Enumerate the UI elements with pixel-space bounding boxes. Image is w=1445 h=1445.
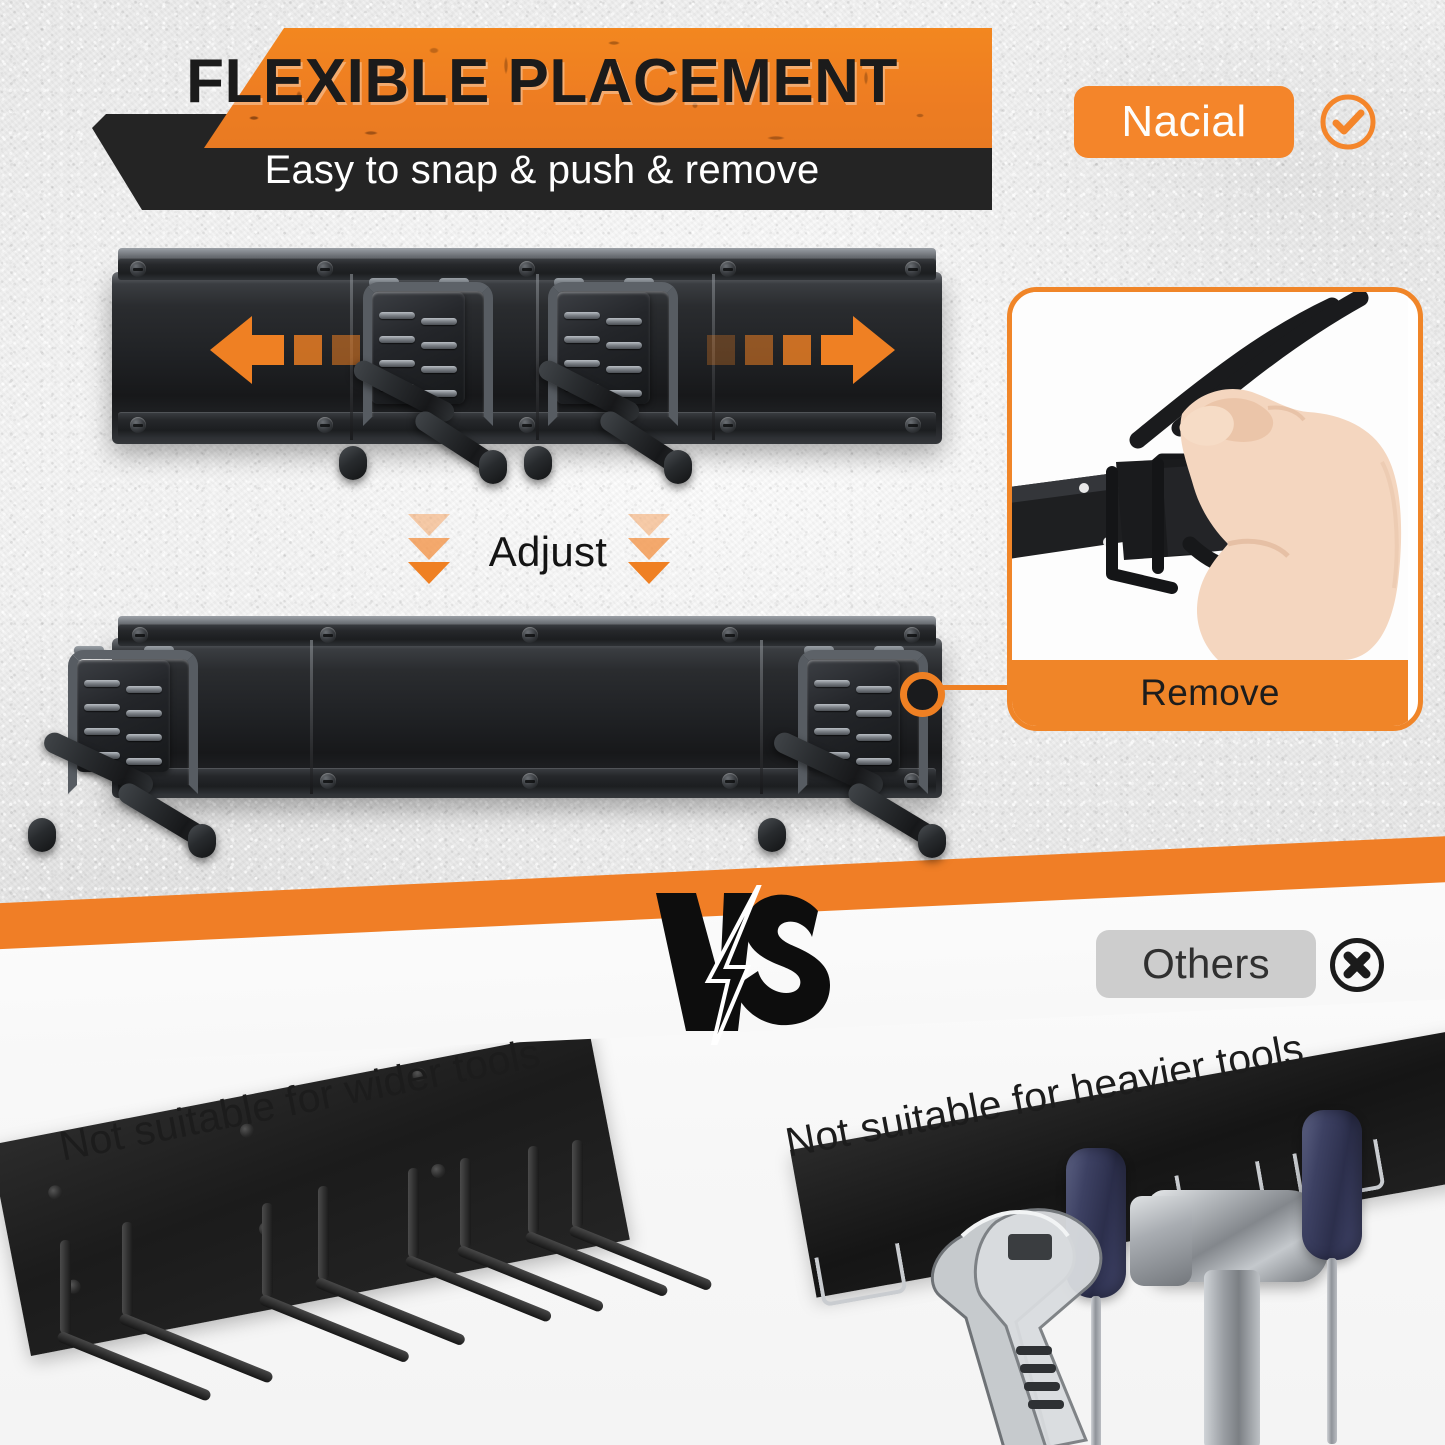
chevron-down-icon	[628, 562, 670, 584]
wire-hook-post	[572, 1140, 583, 1228]
rail-seam	[310, 640, 313, 794]
vs-badge	[650, 885, 840, 1045]
screwdriver-handle	[1302, 1110, 1362, 1260]
screw	[317, 261, 333, 277]
chevron-down-icon	[408, 538, 450, 560]
screw	[320, 773, 336, 789]
hook-tip	[479, 450, 507, 484]
rail-seam	[760, 640, 763, 794]
screw	[720, 261, 736, 277]
hook-tip	[664, 450, 692, 484]
screw	[522, 627, 538, 643]
rail-seam	[536, 274, 539, 440]
screw	[522, 773, 538, 789]
hook-tip	[524, 446, 552, 480]
hook	[60, 646, 200, 856]
chevron-down-icon	[628, 538, 670, 560]
chevron-down-icon	[628, 514, 670, 536]
arrow-right-icon	[707, 316, 895, 384]
hook-tip	[339, 446, 367, 480]
screw	[720, 417, 736, 433]
screw	[519, 261, 535, 277]
arrow-right-stem	[821, 335, 853, 365]
screw	[722, 773, 738, 789]
brand-name: Nacial	[1121, 97, 1246, 147]
screw	[904, 627, 920, 643]
wire-hook-post	[318, 1186, 329, 1280]
wire-hook-post	[528, 1146, 539, 1234]
banner-subtitle: Easy to snap & push & remove	[92, 148, 992, 193]
chevron-down-icon	[408, 562, 450, 584]
hook-tip	[758, 818, 786, 852]
arrow-right-head	[853, 316, 895, 384]
screw	[47, 1184, 63, 1200]
screw	[317, 417, 333, 433]
screw	[130, 417, 146, 433]
screw	[320, 627, 336, 643]
circle-x-icon	[1328, 936, 1386, 994]
arrow-left-head	[210, 316, 252, 384]
hook-tip	[918, 824, 946, 858]
remove-label-bar: Remove	[1012, 660, 1408, 726]
arrow-trail-block	[707, 335, 735, 365]
hook-tip	[188, 824, 216, 858]
screw	[430, 1163, 446, 1179]
brand-badge: Nacial	[1074, 86, 1294, 158]
remove-callout-panel: Remove	[1007, 287, 1423, 731]
screw	[722, 627, 738, 643]
arrow-trail-block	[745, 335, 773, 365]
callout-connector-dot	[900, 672, 945, 717]
screw	[132, 627, 148, 643]
remove-photo	[1012, 292, 1408, 660]
adjust-label: Adjust	[478, 528, 618, 576]
wire-hook-post	[460, 1158, 471, 1248]
circle-check-icon	[1318, 92, 1378, 152]
others-badge: Others	[1096, 930, 1316, 998]
adjust-indicator: Adjust	[400, 506, 690, 602]
others-label: Others	[1142, 940, 1270, 988]
screw	[905, 417, 921, 433]
wire-hook-post	[262, 1203, 273, 1297]
hammer-handle	[1204, 1270, 1260, 1445]
remove-label: Remove	[1140, 672, 1280, 714]
banner-title: FLEXIBLE PLACEMENT	[92, 46, 992, 117]
chevron-down-icon	[408, 514, 450, 536]
wire-hook-post	[408, 1168, 419, 1258]
rail-top	[112, 248, 942, 468]
header-banner: FLEXIBLE PLACEMENT Easy to snap & push &…	[92, 28, 992, 210]
product-infographic: FLEXIBLE PLACEMENT Easy to snap & push &…	[0, 0, 1445, 1445]
wire-hook-post	[122, 1222, 133, 1316]
pliers-tool	[900, 1178, 1190, 1445]
hook	[355, 278, 495, 488]
wire-hook-post	[60, 1240, 71, 1334]
arrow-left-stem	[252, 335, 284, 365]
screw	[130, 261, 146, 277]
arrow-trail-block	[294, 335, 322, 365]
screwdriver-shaft	[1327, 1258, 1337, 1444]
hook	[540, 278, 680, 488]
arrow-trail-block	[783, 335, 811, 365]
screw	[905, 261, 921, 277]
screw	[519, 417, 535, 433]
hook-tip	[28, 818, 56, 852]
